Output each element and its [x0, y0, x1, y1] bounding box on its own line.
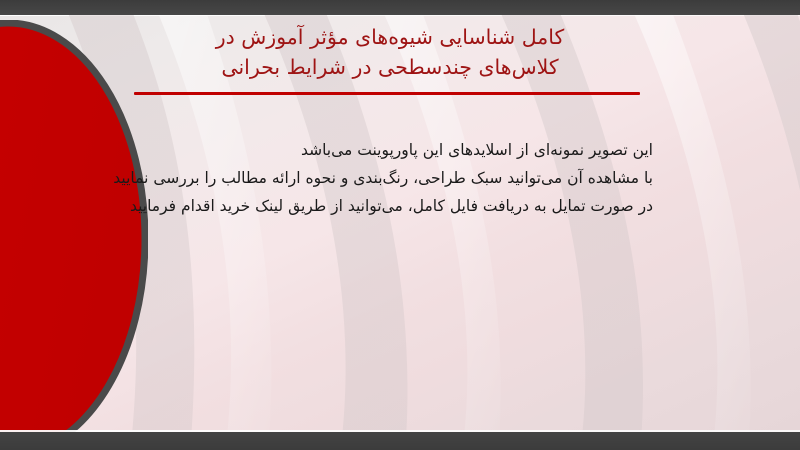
slide-body-text: این تصویر نمونه‌ای از اسلایدهای این پاور… — [147, 136, 653, 220]
title-line-1: کامل شناسایی شیوه‌های مؤثر آموزش در — [120, 22, 660, 52]
body-line-3: در صورت تمایل به دریافت فایل کامل، می‌تو… — [147, 192, 653, 220]
title-line-2: کلاس‌های چندسطحی در شرایط بحرانی — [120, 52, 660, 82]
body-line-2: با مشاهده آن می‌توانید سبک طراحی، رنگ‌بن… — [147, 164, 653, 192]
top-dark-band — [0, 0, 800, 15]
presentation-slide: کامل شناسایی شیوه‌های مؤثر آموزش در کلاس… — [0, 0, 800, 450]
slide-background-panel: کامل شناسایی شیوه‌های مؤثر آموزش در کلاس… — [0, 14, 800, 432]
bottom-dark-band — [0, 432, 800, 450]
slide-title: کامل شناسایی شیوه‌های مؤثر آموزش در کلاس… — [120, 22, 660, 82]
title-underline-rule — [134, 92, 640, 95]
body-line-1: این تصویر نمونه‌ای از اسلایدهای این پاور… — [147, 136, 653, 164]
